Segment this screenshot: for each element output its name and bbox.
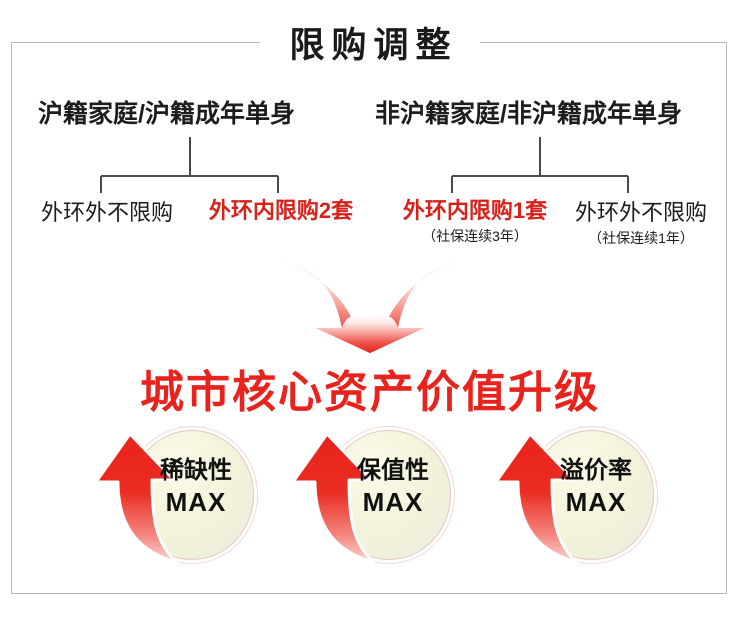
- badge-label: 稀缺性 MAX: [144, 456, 248, 518]
- leaf-local-inner: 外环内限购2套: [186, 196, 376, 226]
- leaf-note: （社保连续3年）: [380, 226, 570, 246]
- badge-label: 保值性 MAX: [341, 456, 445, 518]
- group-header-local: 沪籍家庭/沪籍成年单身: [38, 94, 295, 130]
- leaf-label: 外环外不限购: [556, 198, 726, 228]
- badge-label-cn: 溢价率: [544, 456, 648, 486]
- badge-label-cn: 稀缺性: [144, 456, 248, 486]
- group-header-nonlocal: 非沪籍家庭/非沪籍成年单身: [375, 94, 682, 130]
- badge-label-max: MAX: [544, 486, 648, 518]
- funnel-head: [316, 314, 424, 353]
- leaf-label: 外环内限购2套: [186, 196, 376, 226]
- leaf-label: 外环内限购1套: [380, 196, 570, 226]
- badge-label: 溢价率 MAX: [544, 456, 648, 518]
- leaf-nonlocal-inner: 外环内限购1套 （社保连续3年）: [380, 196, 570, 246]
- badge-label-max: MAX: [341, 486, 445, 518]
- infographic-poster: 限购调整 沪籍家庭/沪籍成年单身 非沪籍家庭/非沪籍成年单身 外环外不限购 外环…: [0, 0, 740, 617]
- leaf-label: 外环外不限购: [22, 198, 192, 228]
- headline: 城市核心资产价值升级: [0, 356, 740, 420]
- badge-premium-rate: 溢价率 MAX: [478, 424, 678, 574]
- funnel-down-arrow-icon: [272, 256, 468, 354]
- title-bar: 限购调整: [0, 18, 740, 74]
- leaf-note: （社保连续1年）: [556, 228, 726, 248]
- page-title: 限购调整: [260, 23, 479, 69]
- leaf-nonlocal-outer: 外环外不限购 （社保连续1年）: [556, 198, 726, 248]
- leaf-local-outer: 外环外不限购: [22, 198, 192, 228]
- badge-value-retention: 保值性 MAX: [275, 424, 475, 574]
- badge-label-cn: 保值性: [341, 456, 445, 486]
- badge-scarcity: 稀缺性 MAX: [78, 424, 278, 574]
- badge-label-max: MAX: [144, 486, 248, 518]
